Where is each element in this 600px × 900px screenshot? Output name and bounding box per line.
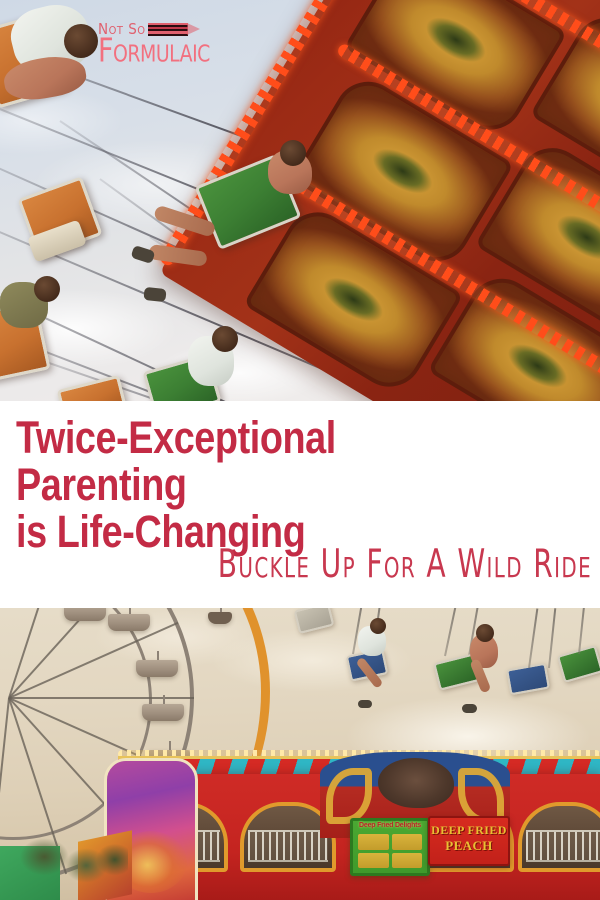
ferris-wheel-gondola — [108, 614, 150, 631]
rider-head — [476, 624, 494, 642]
pinterest-pin-graphic: Twice-Exceptional Parenting is Life-Chan… — [0, 0, 600, 900]
sign-panel — [392, 853, 423, 869]
sign-green-panels — [358, 834, 422, 868]
page-subtitle: Buckle Up For A Wild Ride — [47, 543, 592, 586]
rider-head — [280, 140, 306, 166]
rider-head — [34, 276, 60, 302]
sign-red-line1: DEEP FRIED — [430, 823, 508, 838]
ferris-wheel-gondola — [64, 608, 106, 621]
top-photo-swing-carousel — [0, 0, 600, 401]
booth-railing — [526, 830, 600, 862]
gold-scrollwork — [326, 768, 372, 824]
sign-red-line2: PEACH — [430, 838, 508, 853]
rider-head — [64, 24, 98, 58]
rider-shoe — [358, 700, 372, 708]
sign-panel — [358, 853, 389, 869]
sign-panel — [358, 834, 389, 850]
page-title: Twice-Exceptional Parenting is Life-Chan… — [16, 414, 496, 555]
booth-arch — [518, 802, 600, 872]
site-logo[interactable]: Not So Formulaic — [98, 20, 213, 72]
ferris-wheel-gondola — [142, 704, 184, 721]
sign-deep-fried-peach: DEEP FRIED PEACH — [428, 816, 510, 866]
rider-shoe — [143, 287, 166, 302]
logo-line2: Formulaic — [98, 34, 210, 69]
sign-panel — [392, 834, 423, 850]
rider-head — [370, 618, 386, 634]
booth-railing — [248, 830, 328, 862]
title-band: Twice-Exceptional Parenting is Life-Chan… — [0, 401, 600, 608]
rider-head — [212, 326, 238, 352]
rider-shoe — [462, 704, 477, 713]
background-trees — [18, 828, 128, 900]
booth-center-figure — [378, 758, 454, 808]
sign-deep-fried-delights: Deep Fried Delights — [350, 818, 430, 876]
sign-green-title: Deep Fried Delights — [353, 822, 427, 829]
ferris-wheel-gondola — [136, 660, 178, 677]
ferris-wheel-gondola — [208, 612, 232, 624]
